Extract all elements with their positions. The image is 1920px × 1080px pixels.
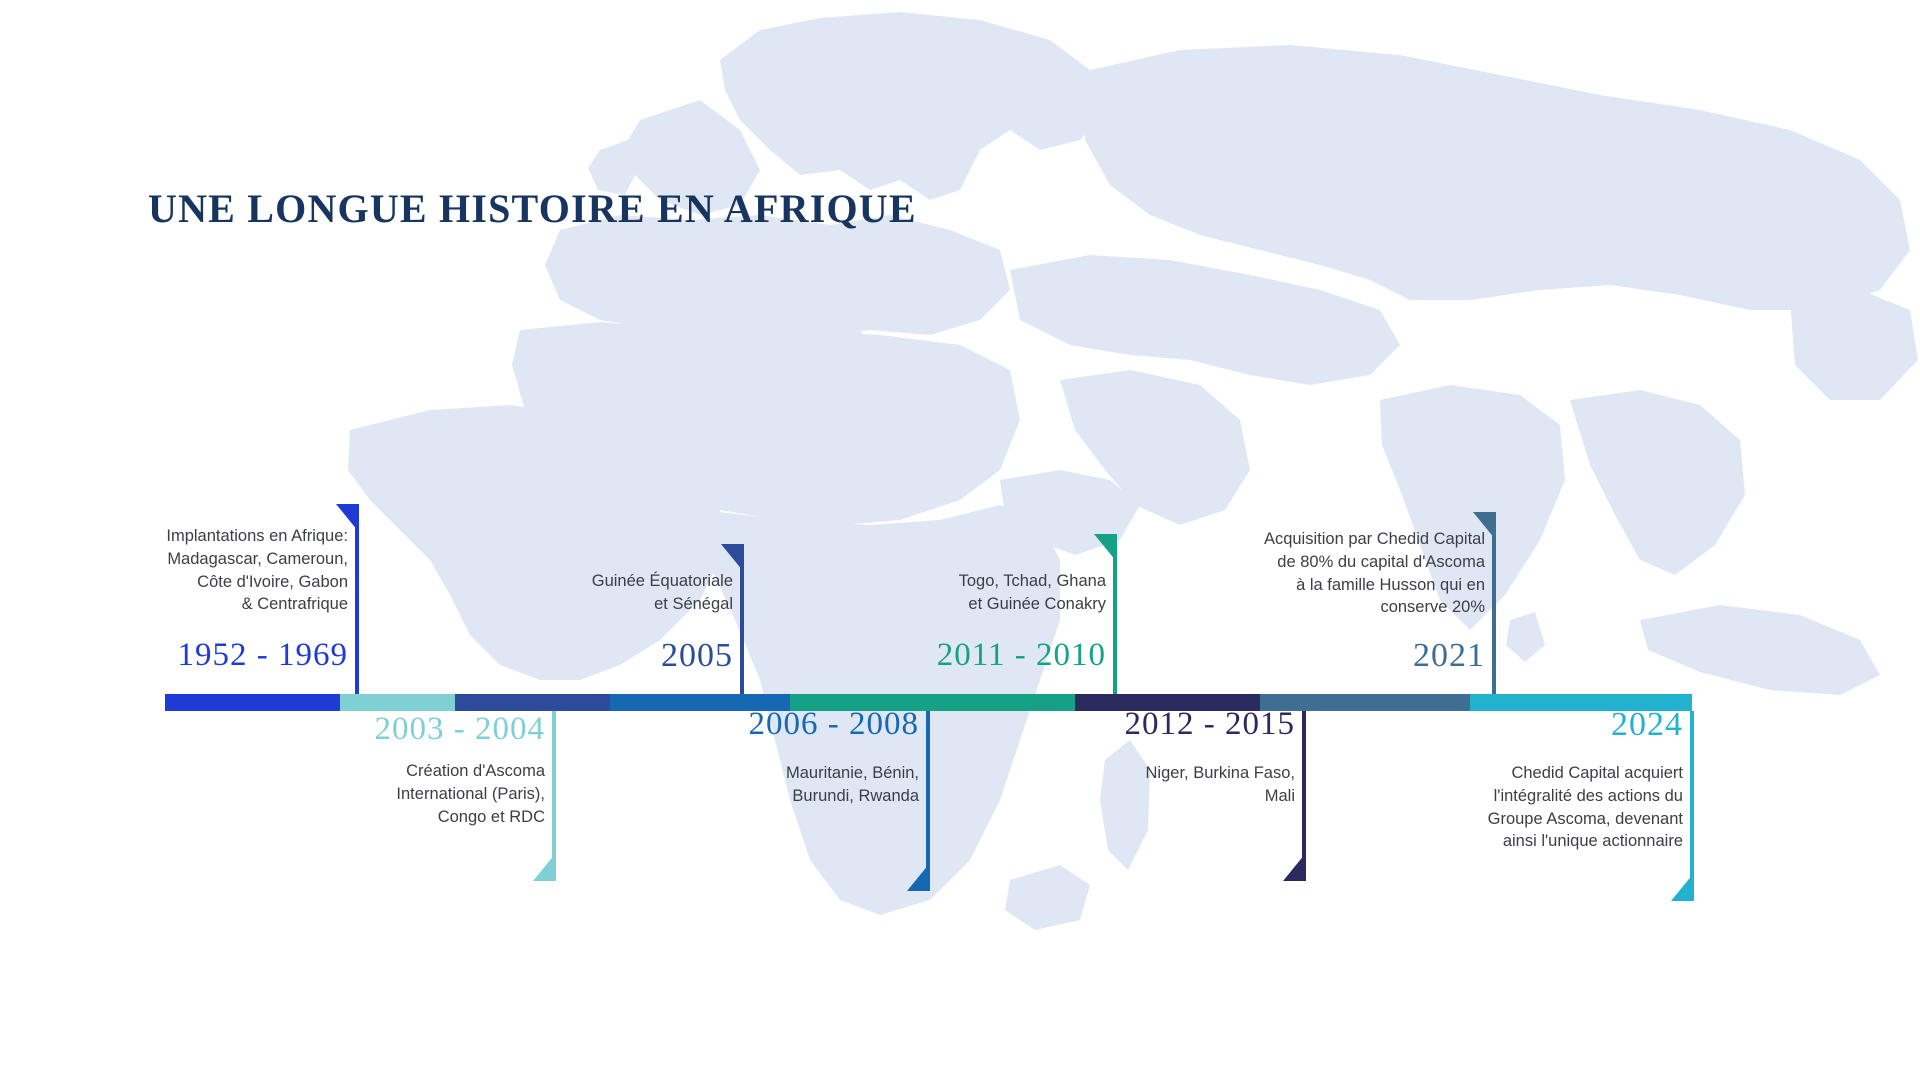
page-title: UNE LONGUE HISTOIRE EN AFRIQUE: [148, 185, 917, 232]
milestone-flag-icon-2005: [721, 544, 743, 571]
timeline-segment-2: [340, 694, 455, 711]
milestone-description-2011-2010: Togo, Tchad, Ghana et Guinée Conakry: [816, 570, 1106, 616]
milestone-description-2021: Acquisition par Chedid Capital de 80% du…: [1155, 528, 1485, 619]
milestone-flag-icon-2003-2004: [533, 854, 555, 881]
milestone-flag-icon-2012-2015: [1283, 854, 1305, 881]
milestone-stem-2024: [1690, 711, 1694, 901]
milestone-flag-icon-2011-2010: [1094, 534, 1116, 561]
milestone-description-2006-2008: Mauritanie, Bénin, Burundi, Rwanda: [649, 762, 919, 808]
milestone-description-2012-2015: Niger, Burkina Faso, Mali: [1005, 762, 1295, 808]
milestone-description-2003-2004: Création d'Ascoma International (Paris),…: [283, 760, 545, 828]
milestone-flag-icon-2024: [1671, 874, 1693, 901]
milestone-year-1952-1969: 1952 - 1969: [0, 637, 348, 674]
milestone-description-2005: Guinée Équatoriale et Sénégal: [463, 570, 733, 616]
milestone-description-1952-1969: Implantations en Afrique: Madagascar, Ca…: [86, 525, 348, 616]
milestone-year-2021: 2021: [1065, 637, 1485, 675]
milestone-year-2003-2004: 2003 - 2004: [125, 711, 545, 748]
milestone-year-2011-2010: 2011 - 2010: [686, 637, 1106, 674]
infographic-canvas: UNE LONGUE HISTOIRE EN AFRIQUE 1952 - 19…: [0, 0, 1920, 1080]
milestone-year-2012-2015: 2012 - 2015: [875, 706, 1295, 743]
timeline-segment-1: [165, 694, 340, 711]
milestone-flag-icon-2006-2008: [907, 864, 929, 891]
milestone-year-2024: 2024: [1263, 706, 1683, 744]
milestone-year-2005: 2005: [313, 637, 733, 675]
milestone-stem-2021: [1492, 512, 1496, 694]
milestone-year-2006-2008: 2006 - 2008: [499, 706, 919, 743]
milestone-description-2024: Chedid Capital acquiert l'intégralité de…: [1353, 762, 1683, 853]
